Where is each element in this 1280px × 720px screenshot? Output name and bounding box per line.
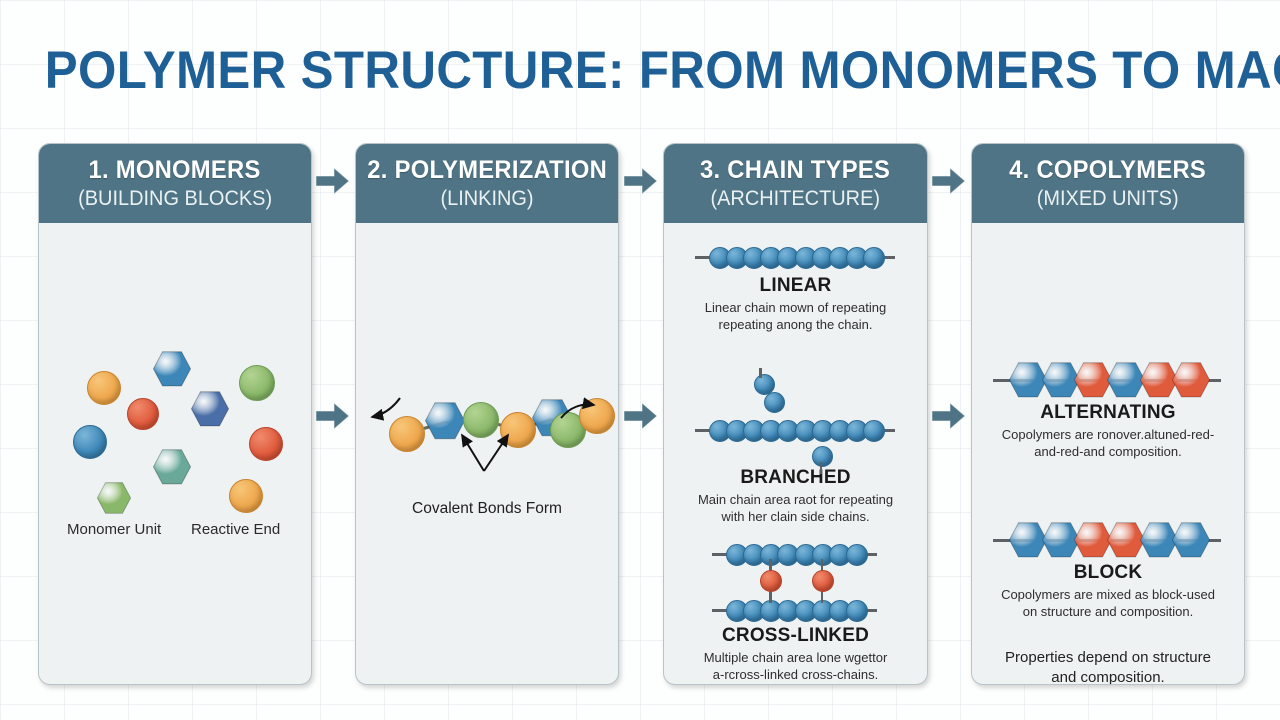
copolymer-desc-line1-block: Copolymers are mixed as block-used [972, 587, 1244, 604]
chain-type-desc-line2-linear: repeating anong the chain. [664, 317, 927, 334]
branch-up-bead-1 [754, 374, 775, 395]
crosslink-chain-bottom [664, 597, 925, 623]
flow-arrow-2-1 [316, 401, 356, 431]
chain-type-desc-linear: Linear chain mown of repeatingrepeating … [664, 300, 927, 333]
branch-down-bead-1 [812, 446, 833, 467]
monomer-1-circle-orange [87, 371, 121, 405]
covalent-bonds-caption: Covalent Bonds Form [356, 500, 618, 518]
copolymer-title-block: BLOCK [972, 562, 1244, 584]
monomer-9-hexagon-green [97, 482, 131, 519]
chain-type-desc-cross-linked: Multiple chain area lone wgettora-rcross… [664, 650, 927, 683]
copolymer-unit-6-red [1172, 362, 1210, 403]
monomer-8-hexagon-teal-shape [153, 449, 191, 485]
panel-copolymers-title: 4. COPOLYMERS [1010, 158, 1207, 183]
flow-arrow-2-2 [624, 401, 664, 431]
copolymer-unit-6-shape [1172, 522, 1210, 558]
flow-arrow-1-3 [932, 166, 972, 196]
branch-bond-down [820, 462, 823, 474]
chain-type-desc-line1-linear: Linear chain mown of repeating [664, 300, 927, 317]
monomer-8-hexagon-teal [153, 449, 191, 490]
chain-type-desc-line1-cross-linked: Multiple chain area lone wgettor [664, 650, 927, 667]
reactive-end-label: Reactive End [191, 521, 280, 538]
copolymer-note-line2: and composition. [972, 668, 1244, 685]
monomer-4-circle-red [127, 398, 159, 430]
copolymer-diagram-block [972, 518, 1244, 562]
panel-polymerization-subtitle: (LINKING) [440, 188, 533, 209]
branch-up-bead-2 [764, 392, 785, 413]
monomer-10-circle-orange [229, 479, 263, 513]
chain-type-title-branched: BRANCHED [664, 467, 927, 489]
panel-monomers-subtitle: (BUILDING BLOCKS) [78, 188, 272, 209]
monomer-5-hexagon-dark_blue-shape [191, 391, 229, 427]
monomer-unit-label: Monomer Unit [67, 521, 161, 538]
flow-arrow-2-3 [932, 401, 972, 431]
page-title: POLYMER STRUCTURE: FROM MONOMERS TO MACR… [45, 40, 1235, 101]
copolymer-desc-line2-block: on structure and composition. [972, 604, 1244, 621]
monomer-5-hexagon-dark_blue [191, 391, 229, 432]
chain-type-title-linear: LINEAR [664, 275, 927, 297]
chain-type-desc-line2-cross-linked: a-rcross-linked cross-chains. [664, 667, 927, 684]
panel-copolymers-header: 4. COPOLYMERS (MIXED UNITS) [972, 144, 1244, 223]
panel-polymerization[interactable]: 2. POLYMERIZATION (LINKING) Covalent Bon… [355, 143, 619, 685]
chain-type-desc-line2-branched: with her clain side chains. [664, 509, 927, 526]
chain-bead-8 [846, 544, 868, 566]
copolymer-title-alternating: ALTERNATING [972, 402, 1244, 424]
monomer-9-hexagon-green-shape [97, 482, 131, 514]
infographic-canvas: POLYMER STRUCTURE: FROM MONOMERS TO MACR… [0, 0, 1280, 720]
panel-monomers-title: 1. MONOMERS [89, 158, 261, 183]
copolymer-desc-line2-alternating: and-red-and composition. [972, 444, 1244, 461]
chain-type-cross-linked[interactable]: CROSS-LINKEDMultiple chain area lone wge… [664, 541, 927, 683]
copolymer-desc-block: Copolymers are mixed as block-usedon str… [972, 587, 1244, 620]
copolymer-unit-6-blue [1172, 522, 1210, 563]
chain-diagram-cross-linked [664, 541, 927, 625]
flow-arrow-1-1 [316, 166, 356, 196]
panel-chain-types-subtitle: (ARCHITECTURE) [711, 188, 881, 209]
monomer-2-hexagon-blue-shape [153, 351, 191, 387]
panel-monomers[interactable]: 1. MONOMERS (BUILDING BLOCKS) [38, 143, 312, 685]
copolymer-desc-line1-alternating: Copolymers are ronover.altuned-red- [972, 427, 1244, 444]
monomer-6-circle-blue [73, 425, 107, 459]
monomer-7-circle-red [249, 427, 283, 461]
panel-chain-types-header: 3. CHAIN TYPES (ARCHITECTURE) [664, 144, 927, 223]
crosslink-bead-2 [812, 570, 834, 592]
panel-monomers-body: Monomer UnitReactive End [39, 223, 311, 684]
panel-polymerization-header: 2. POLYMERIZATION (LINKING) [356, 144, 618, 223]
chain-bead-10 [863, 420, 885, 442]
panel-polymerization-title: 2. POLYMERIZATION [367, 158, 607, 183]
chain-type-desc-branched: Main chain area raot for repeatingwith h… [664, 492, 927, 525]
flow-arrow-1-2 [624, 166, 664, 196]
chain-bead-10 [863, 247, 885, 269]
panel-chain-types-title: 3. CHAIN TYPES [700, 158, 890, 183]
chain-diagram-linear [664, 241, 927, 275]
covalent-bond-pointer-arrows [356, 383, 618, 563]
panel-polymerization-body: Covalent Bonds Form [356, 223, 618, 684]
copolymer-unit-6-shape [1172, 362, 1210, 398]
panel-monomers-header: 1. MONOMERS (BUILDING BLOCKS) [39, 144, 311, 223]
panel-copolymers-subtitle: (MIXED UNITS) [1037, 188, 1179, 209]
copolymer-alternating[interactable]: ALTERNATINGCopolymers are ronover.altune… [972, 358, 1244, 460]
copolymer-diagram-alternating [972, 358, 1244, 402]
copolymer-properties-note: Properties depend on structureand compos… [972, 648, 1244, 685]
crosslink-bead-1 [760, 570, 782, 592]
chain-type-branched[interactable]: BRANCHEDMain chain area raot for repeati… [664, 391, 927, 525]
copolymer-note-line1: Properties depend on structure [972, 648, 1244, 668]
monomer-2-hexagon-blue [153, 351, 191, 392]
chain-type-desc-line1-branched: Main chain area raot for repeating [664, 492, 927, 509]
panel-copolymers[interactable]: 4. COPOLYMERS (MIXED UNITS) [971, 143, 1245, 685]
copolymer-desc-alternating: Copolymers are ronover.altuned-red-and-r… [972, 427, 1244, 460]
panel-chain-types[interactable]: 3. CHAIN TYPES (ARCHITECTURE) LINEARLine… [663, 143, 928, 685]
chain-type-title-cross-linked: CROSS-LINKED [664, 625, 927, 647]
copolymer-block[interactable]: BLOCKCopolymers are mixed as block-usedo… [972, 518, 1244, 620]
chain-bead-8 [846, 600, 868, 622]
panel-copolymers-body: ALTERNATINGCopolymers are ronover.altune… [972, 223, 1244, 684]
crosslink-chain-top [664, 541, 925, 567]
chain-diagram-branched [664, 391, 927, 467]
panel-chain-types-body: LINEARLinear chain mown of repeatingrepe… [664, 223, 927, 684]
branch-bond-up [759, 368, 762, 378]
chain-type-linear[interactable]: LINEARLinear chain mown of repeatingrepe… [664, 241, 927, 333]
monomer-3-circle-green [239, 365, 275, 401]
